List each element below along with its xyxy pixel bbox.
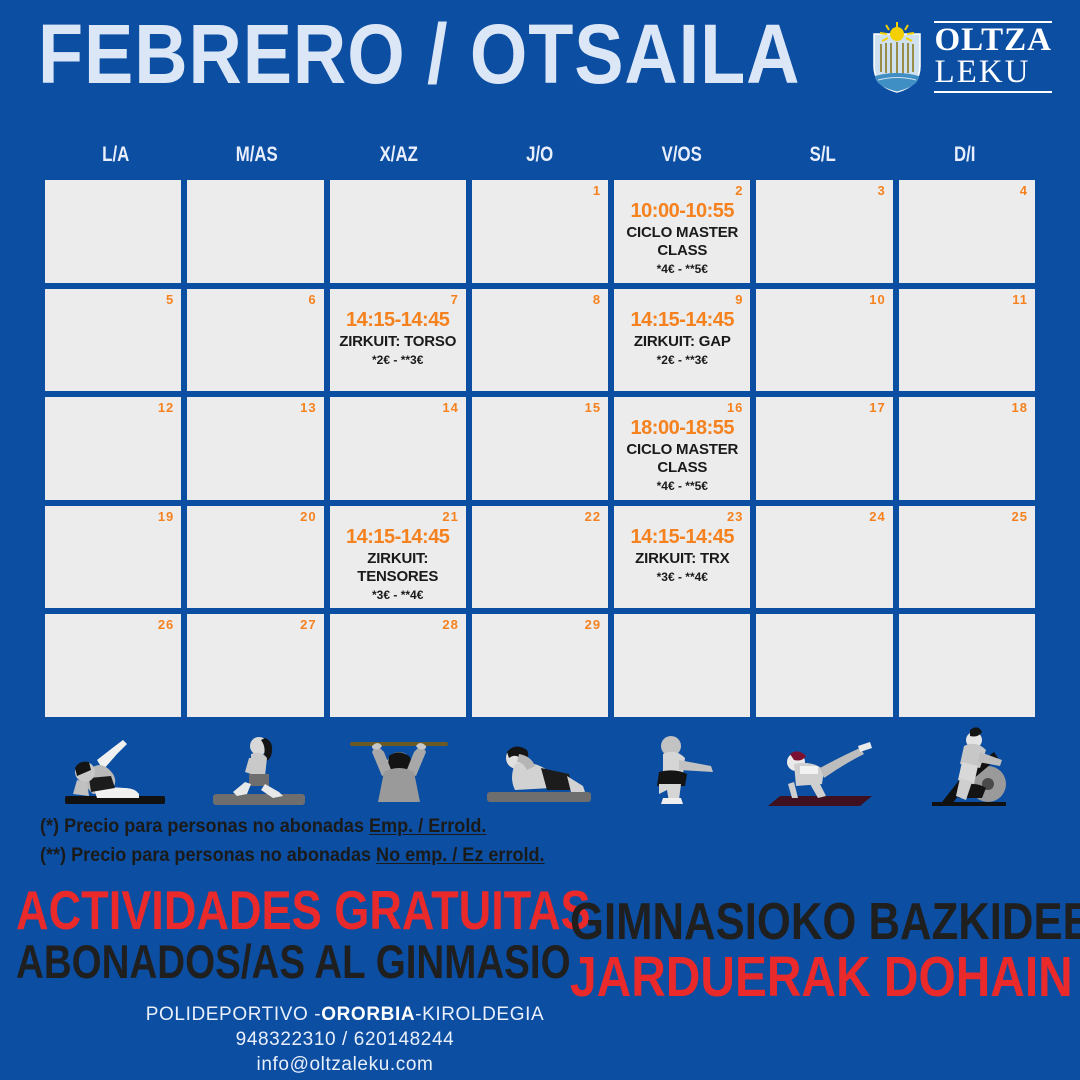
slogan-basque: GIMNASIOKO BAZKIDEEK JARDUERAK DOHAIN	[570, 896, 1080, 1005]
calendar-cell-event[interactable]: 210:00-10:55CICLO MASTER CLASS*4€ - **5€	[614, 180, 750, 283]
calendar-cell[interactable]: 6	[187, 289, 323, 392]
weekday-label-l-a: L/A	[59, 143, 172, 167]
day-number: 1	[593, 183, 601, 198]
contact-venue-suffix: -KIROLDEGIA	[415, 1004, 544, 1025]
contact-info: POLIDEPORTIVO -ORORBIA-KIROLDEGIA 948322…	[0, 1002, 690, 1077]
calendar-cell[interactable]	[187, 180, 323, 283]
lunge-figure-icon	[186, 718, 327, 810]
weekday-header-row: L/AM/ASX/AZJ/OV/OSS/LD/I	[45, 143, 1035, 167]
calendar-cell[interactable]	[614, 614, 750, 717]
day-number: 3	[877, 183, 885, 198]
activity-name: CICLO MASTER CLASS	[617, 224, 747, 260]
logo-oltza-text: OLTZA	[934, 21, 1052, 56]
page-title: FEBRERO / OTSAILA	[38, 12, 800, 96]
day-number: 18	[1012, 400, 1028, 415]
activity-time: 18:00-18:55	[617, 416, 747, 440]
day-number: 4	[1020, 183, 1028, 198]
weekday-label-j-o: J/O	[483, 143, 596, 167]
calendar-cell-event[interactable]: 914:15-14:45ZIRKUIT: GAP*2€ - **3€	[614, 289, 750, 392]
day-number: 16	[727, 400, 743, 415]
activity-price: *3€ - **4€	[617, 570, 747, 585]
calendar-cell[interactable]: 3	[756, 180, 892, 283]
activity-price: *3€ - **4€	[333, 588, 463, 603]
day-number: 17	[869, 400, 885, 415]
calendar-cell[interactable]	[899, 614, 1035, 717]
calendar-cell[interactable]: 27	[187, 614, 323, 717]
day-number: 28	[442, 617, 458, 632]
activity-name: ZIRKUIT: TRX	[617, 550, 747, 568]
slogan-basque-line1: GIMNASIOKO BAZKIDEEK	[570, 896, 1007, 948]
calendar-cell[interactable]: 1	[472, 180, 608, 283]
stretch-figure-icon	[45, 718, 186, 810]
activity-price: *4€ - **5€	[617, 479, 747, 494]
price-notes: (*) Precio para personas no abonadas Emp…	[40, 812, 740, 870]
price-note: (**) Precio para personas no abonadas No…	[40, 841, 705, 870]
calendar-cell[interactable]: 13	[187, 397, 323, 500]
day-number: 8	[593, 292, 601, 307]
activity-time: 14:15-14:45	[617, 525, 747, 549]
activity-block: 14:15-14:45ZIRKUIT: TENSORES*3€ - **4€	[330, 525, 466, 603]
calendar-cell[interactable]: 17	[756, 397, 892, 500]
overhead-press-figure-icon	[328, 718, 469, 810]
exercise-figures-row	[45, 718, 1035, 810]
weekday-label-s-l: S/L	[766, 143, 879, 167]
activity-name: ZIRKUIT: TENSORES	[333, 550, 463, 586]
calendar-cell[interactable]: 26	[45, 614, 181, 717]
day-number: 24	[869, 509, 885, 524]
activity-name: ZIRKUIT: TORSO	[333, 333, 463, 351]
weekday-label-m-as: M/AS	[201, 143, 314, 167]
activity-name: ZIRKUIT: GAP	[617, 333, 747, 351]
price-note-marker: (**)	[40, 845, 66, 866]
activity-price: *2€ - **3€	[333, 353, 463, 368]
day-number: 23	[727, 509, 743, 524]
poster-header: FEBRERO / OTSAILA	[0, 0, 1080, 130]
calendar-cell[interactable]: 8	[472, 289, 608, 392]
day-number: 25	[1012, 509, 1028, 524]
calendar-cell[interactable]: 12	[45, 397, 181, 500]
price-note-text: Precio para personas no abonadas	[64, 816, 364, 837]
oltza-leku-logo: OLTZA LEKU	[870, 18, 1052, 96]
contact-venue: POLIDEPORTIVO -ORORBIA-KIROLDEGIA	[0, 1002, 690, 1027]
activity-block: 14:15-14:45ZIRKUIT: TRX*3€ - **4€	[614, 525, 750, 585]
day-number: 5	[166, 292, 174, 307]
weekday-label-v-os: V/OS	[625, 143, 738, 167]
calendar-cell[interactable]: 15	[472, 397, 608, 500]
day-number: 13	[300, 400, 316, 415]
calendar-cell[interactable]	[330, 180, 466, 283]
day-number: 22	[585, 509, 601, 524]
logo-wordmark: OLTZA LEKU	[934, 21, 1052, 93]
calendar-cell[interactable]: 29	[472, 614, 608, 717]
activity-time: 14:15-14:45	[333, 308, 463, 332]
day-number: 21	[442, 509, 458, 524]
oltza-coat-of-arms-icon	[870, 20, 924, 94]
squat-figure-icon	[611, 718, 752, 810]
slogan-spanish-line1: ACTIVIDADES GRATUITAS	[16, 884, 475, 936]
price-note: (*) Precio para personas no abonadas Emp…	[40, 812, 705, 841]
calendar-cell-event[interactable]: 2314:15-14:45ZIRKUIT: TRX*3€ - **4€	[614, 506, 750, 609]
activity-block: 14:15-14:45ZIRKUIT: TORSO*2€ - **3€	[330, 308, 466, 368]
calendar-cell[interactable]: 10	[756, 289, 892, 392]
slogan-basque-line2: JARDUERAK DOHAIN	[570, 949, 1007, 1005]
calendar-cell[interactable]	[756, 614, 892, 717]
activity-name: CICLO MASTER CLASS	[617, 441, 747, 477]
calendar-cell-event[interactable]: 1618:00-18:55CICLO MASTER CLASS*4€ - **5…	[614, 397, 750, 500]
activity-price: *4€ - **5€	[617, 262, 747, 277]
day-number: 2	[735, 183, 743, 198]
activity-time: 10:00-10:55	[617, 199, 747, 223]
day-number: 26	[158, 617, 174, 632]
weekday-label-x-az: X/AZ	[342, 143, 455, 167]
day-number: 12	[158, 400, 174, 415]
day-number: 15	[585, 400, 601, 415]
activity-block: 10:00-10:55CICLO MASTER CLASS*4€ - **5€	[614, 199, 750, 277]
calendar-cell[interactable]: 19	[45, 506, 181, 609]
calendar-cell[interactable]: 14	[330, 397, 466, 500]
logo-leku-text: LEKU	[934, 56, 1052, 93]
spin-bike-figure-icon	[894, 718, 1035, 810]
calendar-cell[interactable]	[45, 180, 181, 283]
price-note-emphasis: Emp. / Errold.	[369, 816, 486, 837]
contact-email[interactable]: info@oltzaleku.com	[0, 1052, 690, 1077]
activity-price: *2€ - **3€	[617, 353, 747, 368]
contact-venue-town: ORORBIA	[321, 1004, 415, 1025]
activity-block: 14:15-14:45ZIRKUIT: GAP*2€ - **3€	[614, 308, 750, 368]
price-note-marker: (*)	[40, 816, 59, 837]
day-number: 10	[869, 292, 885, 307]
activity-block: 18:00-18:55CICLO MASTER CLASS*4€ - **5€	[614, 416, 750, 494]
calendar-cell[interactable]: 20	[187, 506, 323, 609]
day-number: 11	[1012, 292, 1028, 307]
day-number: 27	[300, 617, 316, 632]
price-note-emphasis: No emp. / Ez errold.	[376, 845, 545, 866]
day-number: 20	[300, 509, 316, 524]
calendar-cell[interactable]: 28	[330, 614, 466, 717]
day-number: 9	[735, 292, 743, 307]
weekday-label-d-i: D/I	[908, 143, 1021, 167]
slogan-spanish-line2: ABONADOS/AS AL GINMASIO	[16, 938, 475, 986]
crunch-figure-icon	[469, 718, 610, 810]
calendar-cell[interactable]: 11	[899, 289, 1035, 392]
calendar-cell[interactable]: 25	[899, 506, 1035, 609]
day-number: 14	[442, 400, 458, 415]
calendar-cell[interactable]: 4	[899, 180, 1035, 283]
calendar-grid: 1210:00-10:55CICLO MASTER CLASS*4€ - **5…	[45, 180, 1035, 717]
calendar-cell-event[interactable]: 714:15-14:45ZIRKUIT: TORSO*2€ - **3€	[330, 289, 466, 392]
day-number: 7	[451, 292, 459, 307]
day-number: 29	[585, 617, 601, 632]
calendar-cell[interactable]: 5	[45, 289, 181, 392]
contact-phones[interactable]: 948322310 / 620148244	[0, 1027, 690, 1052]
calendar-cell[interactable]: 18	[899, 397, 1035, 500]
day-number: 6	[308, 292, 316, 307]
day-number: 19	[158, 509, 174, 524]
activity-time: 14:15-14:45	[617, 308, 747, 332]
contact-venue-prefix: POLIDEPORTIVO -	[146, 1004, 321, 1025]
calendar-cell-event[interactable]: 2114:15-14:45ZIRKUIT: TENSORES*3€ - **4€	[330, 506, 466, 609]
price-note-text: Precio para personas no abonadas	[71, 845, 371, 866]
slogan-spanish: ACTIVIDADES GRATUITAS ABONADOS/AS AL GIN…	[16, 884, 576, 986]
calendar-cell[interactable]: 24	[756, 506, 892, 609]
leg-raise-figure-icon	[752, 718, 893, 810]
activity-time: 14:15-14:45	[333, 525, 463, 549]
calendar-cell[interactable]: 22	[472, 506, 608, 609]
